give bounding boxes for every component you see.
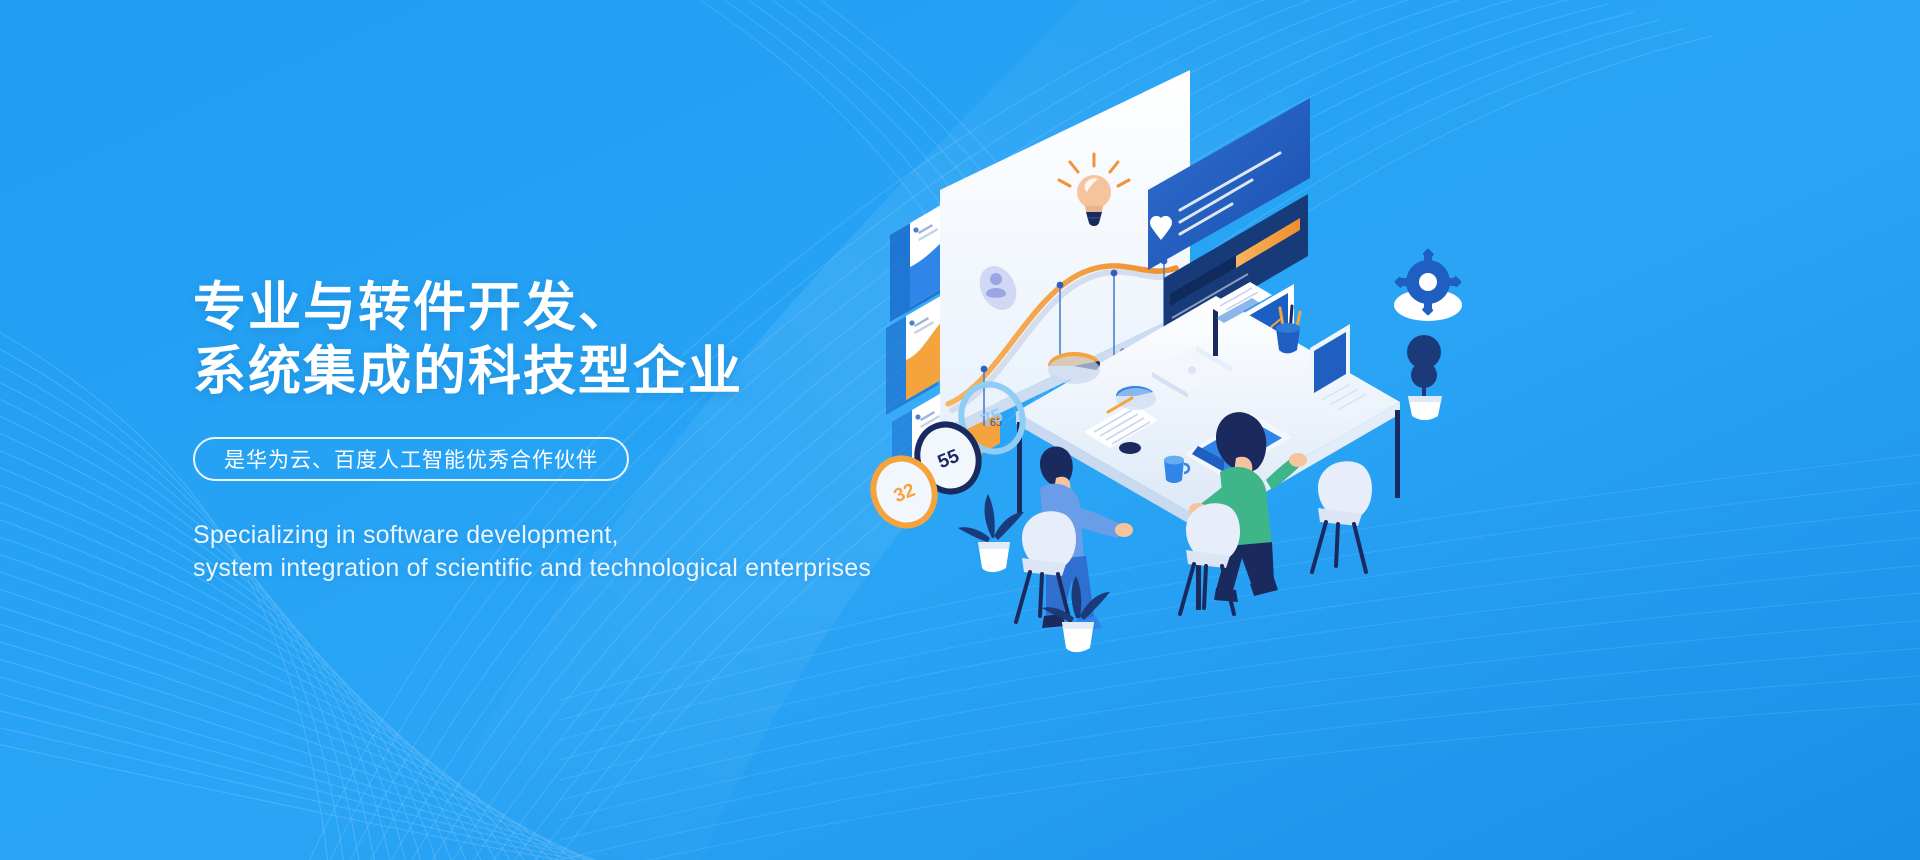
partner-badge[interactable]: 是华为云、百度人工智能优秀合作伙伴	[193, 437, 629, 481]
plant-front	[958, 494, 1024, 572]
hero-illustration: 65 123 97 81	[880, 60, 1520, 620]
chair-right	[1312, 461, 1372, 572]
partner-badge-label: 是华为云、百度人工智能优秀合作伙伴	[224, 444, 598, 474]
headline-line-1: 专业与转件开发、	[193, 278, 633, 337]
hero-banner: 专业与转件开发、 系统集成的科技型企业 是华为云、百度人工智能优秀合作伙伴 Sp…	[0, 0, 1920, 860]
isometric-analytics-scene: 65 123 97 81	[880, 60, 1520, 620]
gear-icon	[1394, 248, 1462, 321]
plant-topiary	[1407, 335, 1442, 420]
